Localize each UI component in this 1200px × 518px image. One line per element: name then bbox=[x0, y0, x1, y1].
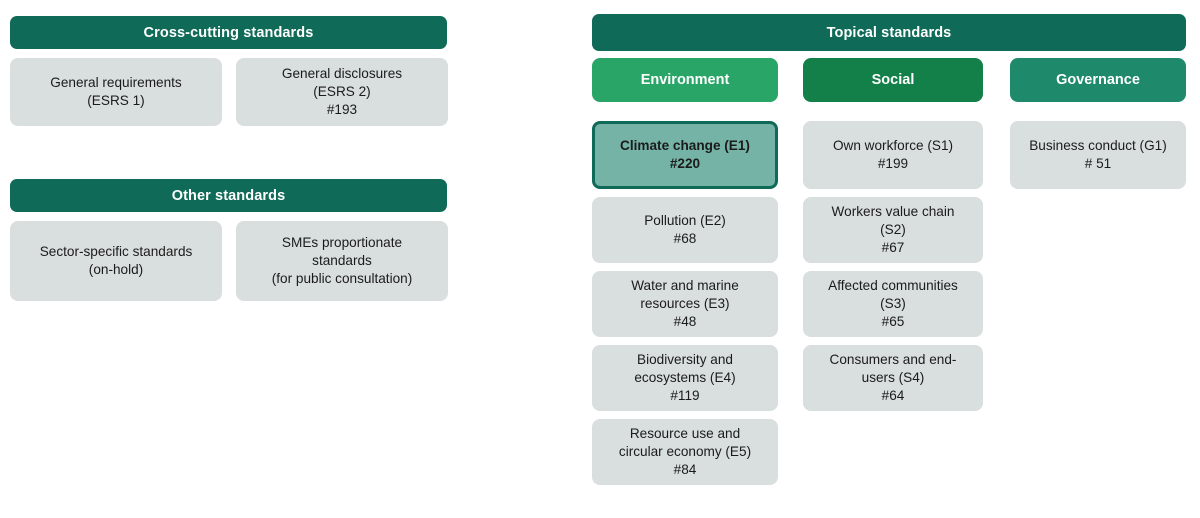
column-header-social[interactable]: Social bbox=[803, 58, 983, 102]
card-pollution-e2[interactable]: Pollution (E2) #68 bbox=[592, 197, 778, 263]
other-standards-header: Other standards bbox=[10, 179, 447, 212]
card-workers-value-chain-s2[interactable]: Workers value chain (S2) #67 bbox=[803, 197, 983, 263]
cross-cutting-standards-header: Cross-cutting standards bbox=[10, 16, 447, 49]
card-sector-specific-standards[interactable]: Sector-specific standards (on-hold) bbox=[10, 221, 222, 301]
card-general-requirements[interactable]: General requirements (ESRS 1) bbox=[10, 58, 222, 126]
card-consumers-and-end-users-s4[interactable]: Consumers and end- users (S4) #64 bbox=[803, 345, 983, 411]
column-header-governance[interactable]: Governance bbox=[1010, 58, 1186, 102]
card-general-disclosures[interactable]: General disclosures (ESRS 2) #193 bbox=[236, 58, 448, 126]
cross-cutting-and-other-standards-region: Cross-cutting standards General requirem… bbox=[0, 0, 470, 518]
card-business-conduct-g1[interactable]: Business conduct (G1) # 51 bbox=[1010, 121, 1186, 189]
card-biodiversity-and-ecosystems-e4[interactable]: Biodiversity and ecosystems (E4) #119 bbox=[592, 345, 778, 411]
column-social: Social Own workforce (S1) #199 Workers v… bbox=[803, 58, 983, 419]
topical-standards-region: Topical standards Environment Climate ch… bbox=[580, 0, 1200, 518]
topical-standards-header: Topical standards bbox=[592, 14, 1186, 51]
card-resource-use-and-circular-economy-e5[interactable]: Resource use and circular economy (E5) #… bbox=[592, 419, 778, 485]
card-climate-change-e1[interactable]: Climate change (E1) #220 bbox=[592, 121, 778, 189]
other-standards-cards-row: Sector-specific standards (on-hold) SMEs… bbox=[10, 221, 448, 301]
card-own-workforce-s1[interactable]: Own workforce (S1) #199 bbox=[803, 121, 983, 189]
card-affected-communities-s3[interactable]: Affected communities (S3) #65 bbox=[803, 271, 983, 337]
card-smes-proportionate-standards[interactable]: SMEs proportionate standards (for public… bbox=[236, 221, 448, 301]
cross-cutting-cards-row: General requirements (ESRS 1) General di… bbox=[10, 58, 448, 126]
card-water-and-marine-resources-e3[interactable]: Water and marine resources (E3) #48 bbox=[592, 271, 778, 337]
column-header-environment[interactable]: Environment bbox=[592, 58, 778, 102]
column-governance: Governance Business conduct (G1) # 51 bbox=[1010, 58, 1186, 197]
column-environment: Environment Climate change (E1) #220 Pol… bbox=[592, 58, 778, 493]
